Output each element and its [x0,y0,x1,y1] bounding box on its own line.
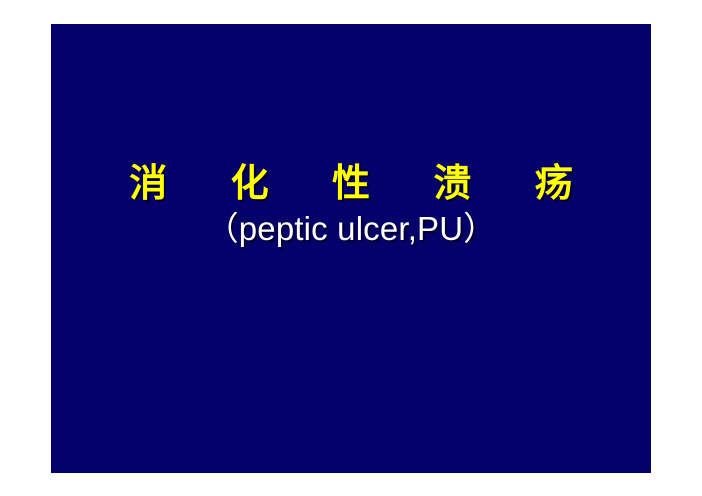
slide-subtitle-english: （peptic ulcer,PU） [51,208,651,250]
presentation-slide: 消 化 性 溃 疡 （peptic ulcer,PU） [51,24,651,473]
slide-page: 消 化 性 溃 疡 （peptic ulcer,PU） [0,0,702,496]
slide-title-chinese: 消 化 性 溃 疡 [51,160,651,206]
title-block: 消 化 性 溃 疡 （peptic ulcer,PU） [51,160,651,250]
